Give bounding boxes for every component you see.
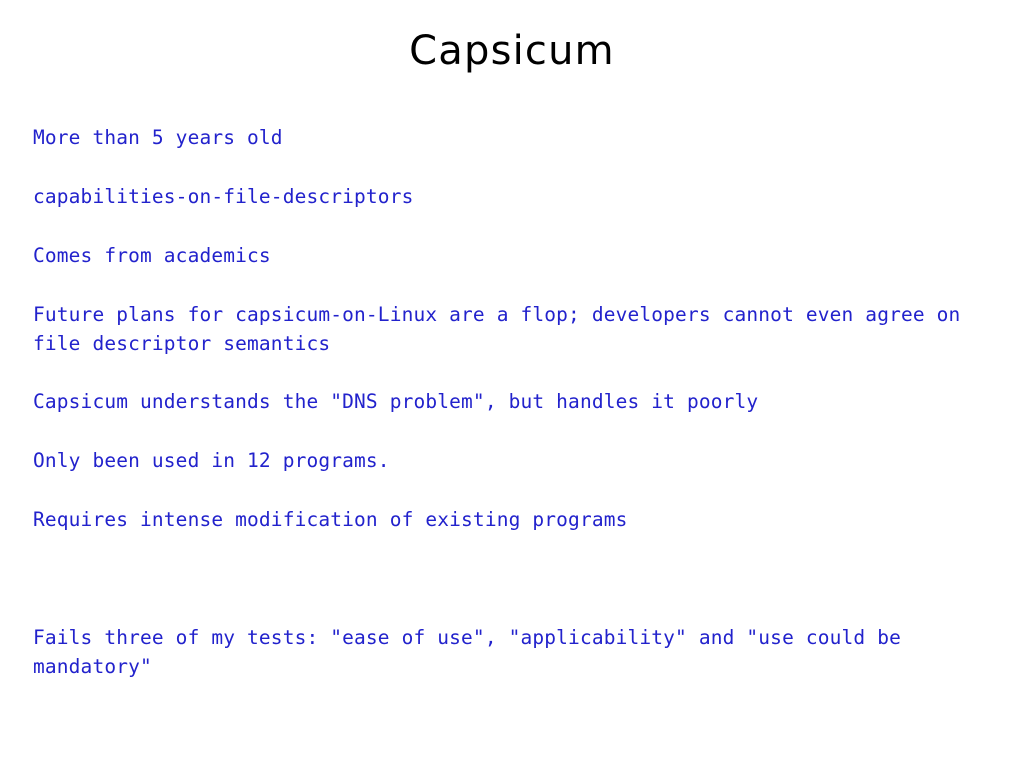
slide-body: More than 5 years old capabilities-on-fi…: [33, 124, 973, 681]
bullet-failed-tests: Fails three of my tests: "ease of use", …: [33, 624, 973, 681]
bullet-dns-problem: Capsicum understands the "DNS problem", …: [33, 388, 973, 417]
slide-canvas: Capsicum More than 5 years old capabilit…: [0, 0, 1024, 768]
bullet-adoption: Only been used in 12 programs.: [33, 447, 973, 476]
bullet-modification: Requires intense modification of existin…: [33, 506, 973, 535]
bullet-future-plans: Future plans for capsicum-on-Linux are a…: [33, 301, 973, 358]
page-title: Capsicum: [0, 28, 1024, 74]
bullet-age: More than 5 years old: [33, 124, 973, 153]
bullet-model: capabilities-on-file-descriptors: [33, 183, 973, 212]
bullet-blank-spacer: [33, 565, 973, 594]
bullet-origin: Comes from academics: [33, 242, 973, 271]
